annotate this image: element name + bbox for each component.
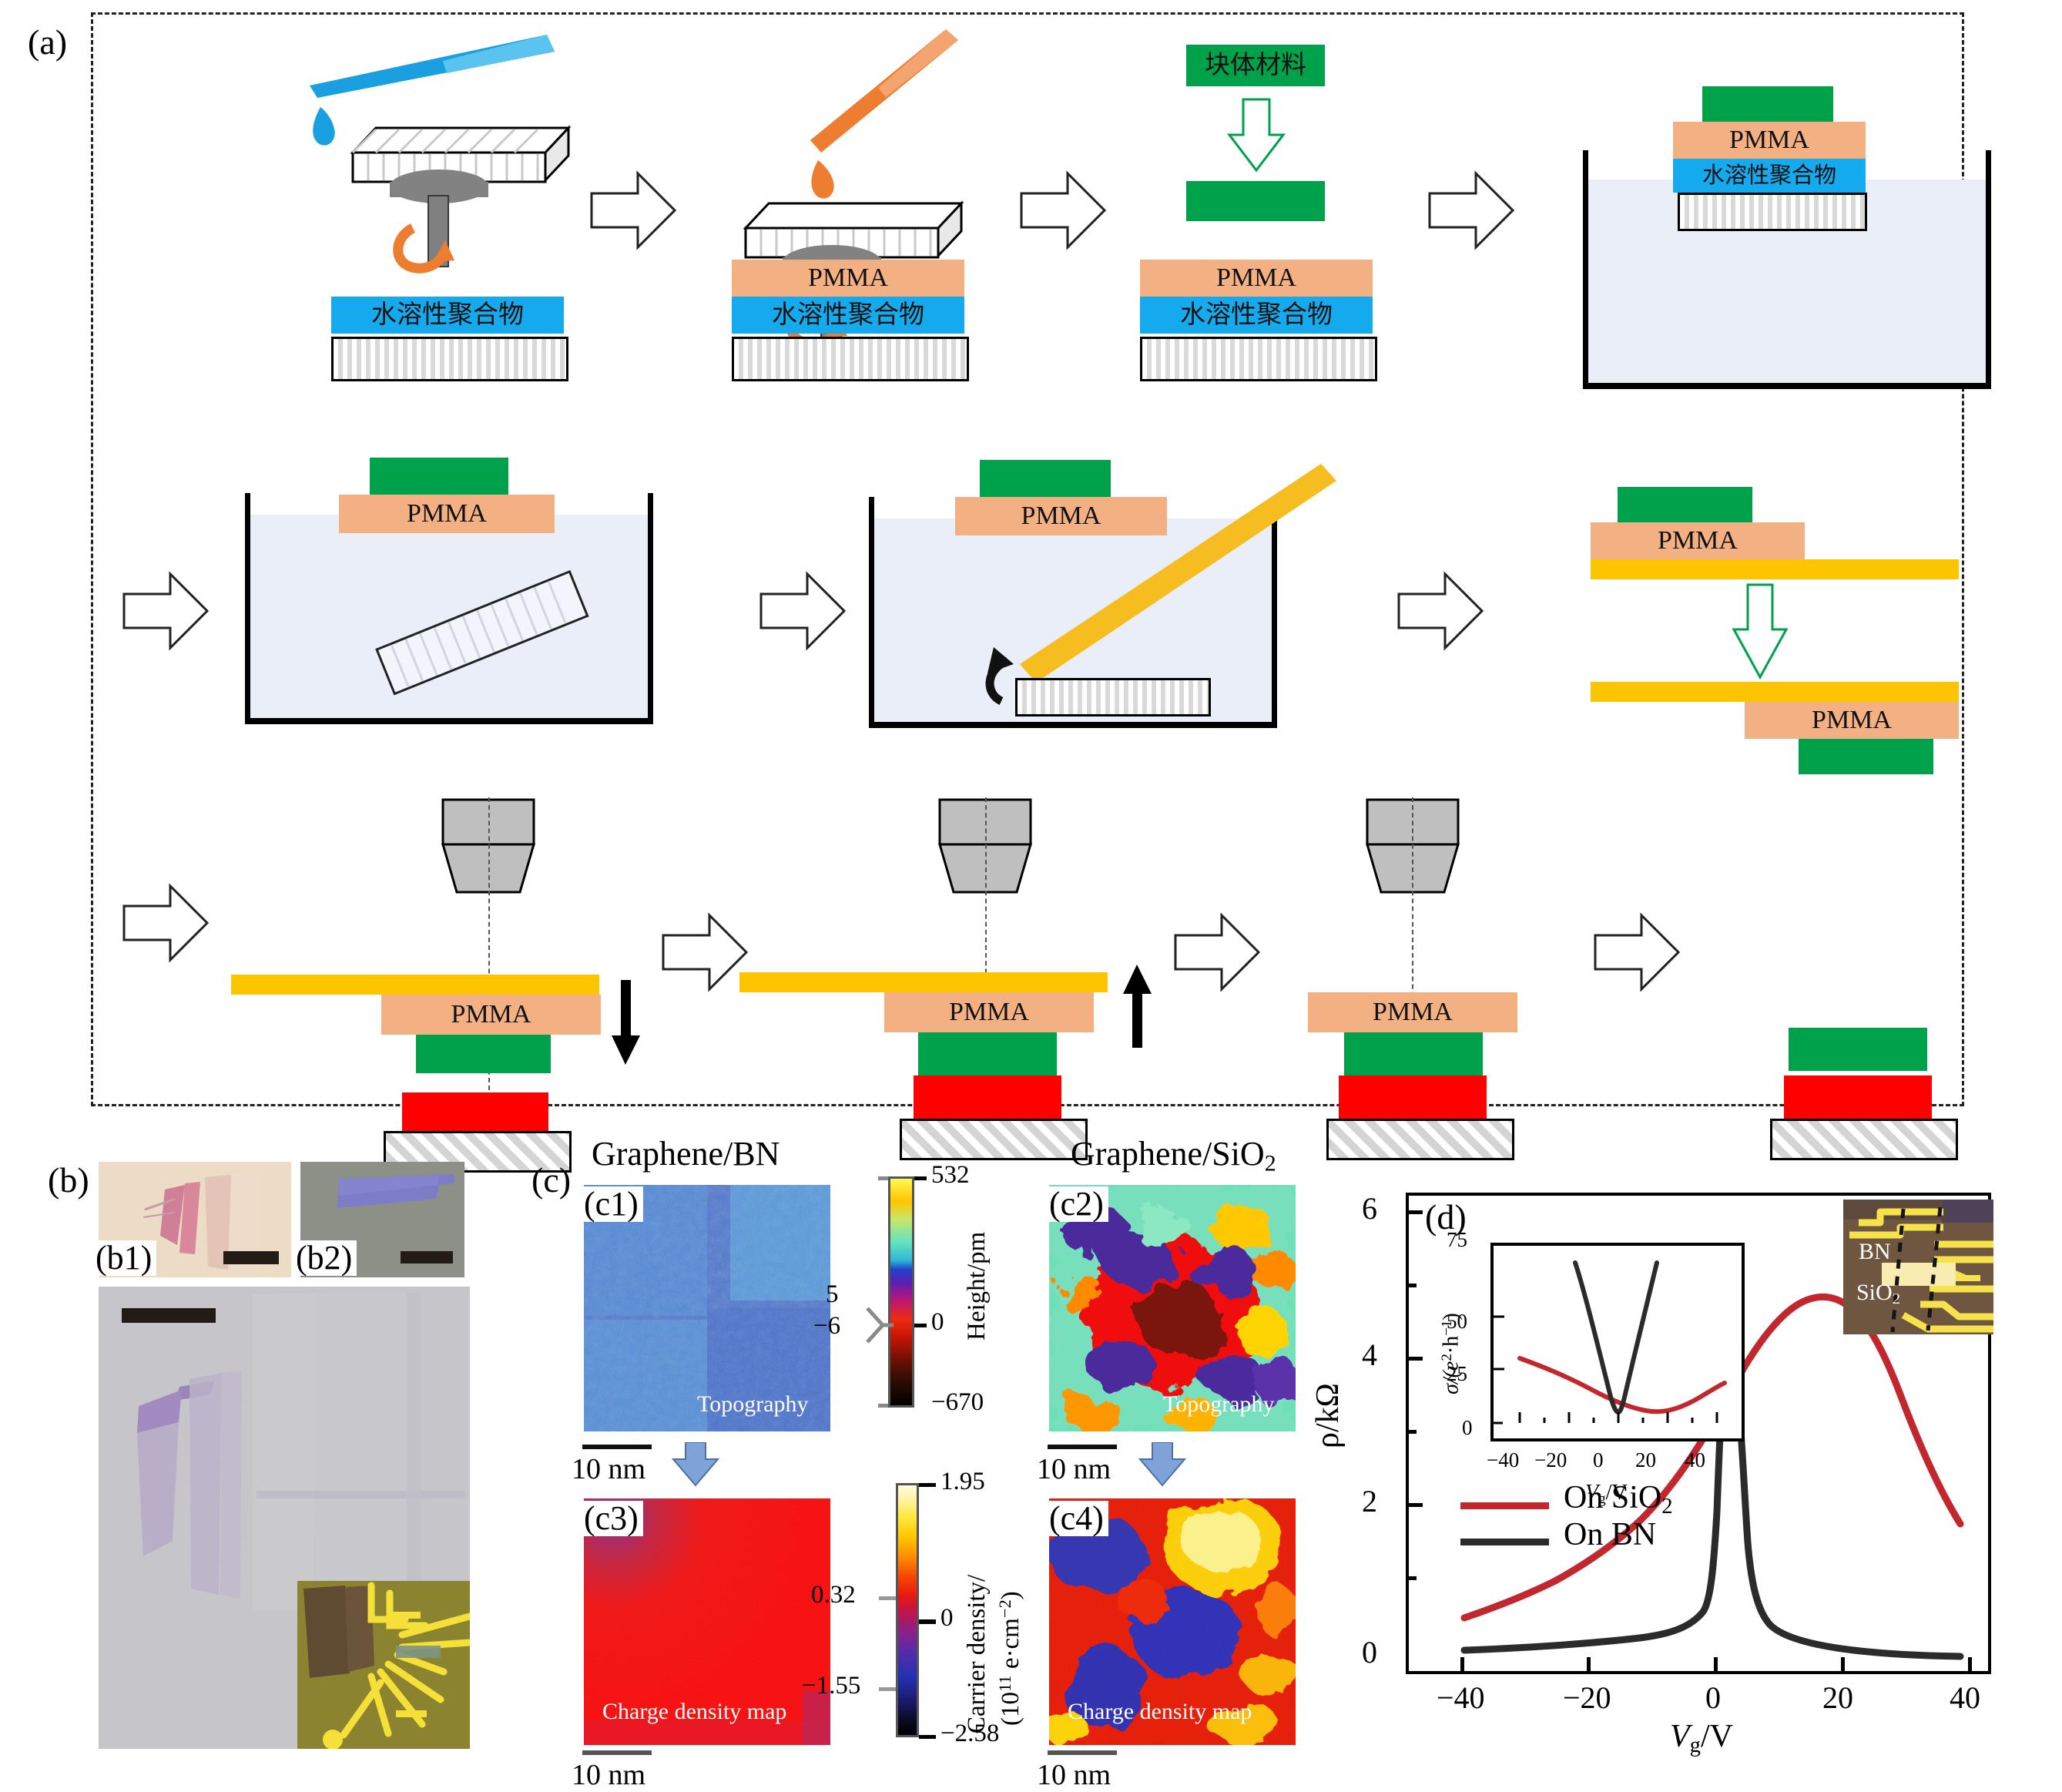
process-arrow-icon-6	[1394, 566, 1487, 659]
layer-pmma-a9: PMMA	[884, 992, 1094, 1032]
caption-c1: Topography	[697, 1391, 809, 1418]
height-cb-bracket-icon	[863, 1304, 894, 1347]
cb-tick-max-r	[914, 1176, 927, 1180]
cb-tick-max	[878, 1176, 888, 1180]
d-ytick-5	[1406, 1284, 1417, 1287]
layer-flake-a4	[1702, 86, 1833, 122]
d-xtick-label-40: 40	[1950, 1680, 1980, 1716]
legend-line-bn	[1460, 1539, 1549, 1545]
layer-pmma-a5: PMMA	[339, 495, 555, 533]
process-arrow-icon-9	[1171, 908, 1263, 1000]
layer-yellow-a9	[739, 972, 1108, 992]
layer-pmma-a7-bot: PMMA	[1745, 702, 1959, 739]
process-arrow-icon	[587, 166, 679, 258]
carrier-cb-title-line1: Carrier density/	[963, 1575, 991, 1733]
column-header-sio2-sub: 2	[1265, 1150, 1276, 1176]
inset-ylabel-sup2: −1	[1439, 1321, 1455, 1336]
ccb-tick-lower	[879, 1687, 896, 1691]
process-arrow-icon-4	[119, 566, 212, 659]
ccb-t2-sup: 11	[995, 1675, 1014, 1692]
sub-label-c3: (c3)	[579, 1501, 643, 1536]
d-xlabel-main: V	[1670, 1719, 1690, 1754]
d-xtick-m20	[1587, 1657, 1591, 1674]
height-cb-title: Height/pm	[963, 1232, 991, 1341]
d-ytick-2	[1406, 1503, 1423, 1507]
layer-wsp-a1: 水溶性聚合物	[331, 297, 564, 334]
d-xtick-m40	[1460, 1657, 1464, 1674]
pipette-orange-icon	[770, 23, 971, 216]
inset-xlabel-sub: g	[1598, 1491, 1606, 1507]
ccb-tick-min	[919, 1735, 936, 1739]
press-down-arrow-icon	[609, 980, 644, 1072]
cb-tick-zero	[914, 1324, 927, 1327]
scale-label-c3: 10 nm	[572, 1758, 645, 1792]
d-ytick-1	[1406, 1576, 1417, 1580]
inset-ylabel-main: σ/(e	[1440, 1361, 1464, 1394]
layer-pmma-a2: PMMA	[732, 260, 964, 297]
d-xlabel-unit: /V	[1701, 1719, 1733, 1754]
height-colorbar	[888, 1176, 914, 1408]
optical-image-b3	[99, 1287, 470, 1749]
green-down-arrow-icon	[1223, 96, 1293, 173]
carrier-cb-title-line2: (1011 e·cm−2)	[995, 1591, 1025, 1726]
height-cb-zero: 0	[931, 1308, 944, 1337]
column-header-graphene-bn: Graphene/BN	[592, 1134, 780, 1173]
d-xlabel-sub: g	[1690, 1733, 1701, 1757]
process-arrow-icon-7	[119, 878, 212, 971]
inset-ylabel-sup: 2	[1439, 1354, 1455, 1361]
scale-bar-c3	[582, 1750, 652, 1755]
inset-ylabel-mid: ·h	[1440, 1336, 1464, 1354]
inset-xlabel-unit: /V	[1606, 1481, 1628, 1505]
green-down-arrow-icon-2	[1729, 582, 1799, 682]
ccb-tick-zero	[919, 1619, 936, 1624]
inset-ylabel-end: )	[1440, 1313, 1464, 1320]
sub-label-c4: (c4)	[1044, 1501, 1108, 1536]
layer-pmma-a3: PMMA	[1140, 260, 1373, 297]
caption-c4: Charge density map	[1068, 1699, 1252, 1725]
inset-xtick-m40: −40	[1487, 1448, 1519, 1472]
layer-red-a11	[1784, 1076, 1932, 1119]
layer-flake-a3	[1186, 181, 1325, 221]
process-arrow-icon-10	[1591, 908, 1683, 1000]
scale-label-c2: 10 nm	[1037, 1452, 1111, 1486]
layer-flake-a11	[1789, 1028, 1927, 1071]
height-cb-inner-upper: 5	[826, 1280, 839, 1309]
inset-xtick-0: 0	[1593, 1448, 1604, 1472]
layer-flake-a9	[918, 1032, 1057, 1076]
inset-xaxis-label: Vg/V	[1585, 1481, 1628, 1508]
ccb-tick-max	[919, 1483, 936, 1487]
substrate-a6	[1015, 678, 1211, 716]
stamp-tool-icon-3	[1352, 794, 1475, 901]
device-label-sio2-main: SiO	[1856, 1280, 1893, 1305]
map-flow-arrow-c1	[669, 1442, 723, 1487]
layer-yellow-a7-top	[1591, 559, 1959, 579]
layer-flake-a5	[370, 458, 508, 495]
substrate-a1	[331, 337, 568, 381]
layer-yellow-a7-bot	[1591, 682, 1959, 702]
d-ytick-label-0: 0	[1362, 1634, 1377, 1670]
d-xtick-label-0: 0	[1705, 1680, 1721, 1716]
d-ytick-label-6: 6	[1362, 1190, 1377, 1227]
carrier-cb-lower: −1.55	[802, 1672, 860, 1700]
panel-c-label: (c)	[531, 1159, 571, 1200]
inset-conductivity-plot	[1490, 1243, 1745, 1441]
layer-flake-a8	[416, 1035, 551, 1073]
d-xaxis-label: Vg/V	[1670, 1718, 1733, 1758]
pickup-film-a6	[971, 455, 1371, 709]
caption-c2: Topography	[1163, 1391, 1275, 1418]
d-xtick-20	[1841, 1657, 1845, 1674]
inset-plot-svg	[1494, 1246, 1742, 1438]
layer-pmma-a4: PMMA	[1673, 122, 1866, 159]
panel-a-label: (a)	[28, 22, 67, 62]
height-cb-inner-lower: −6	[813, 1312, 840, 1341]
substrate-hatch-a9	[900, 1119, 1088, 1160]
substrate-hatch-a10	[1326, 1119, 1514, 1160]
d-ytick-6	[1406, 1210, 1423, 1214]
scale-label-c4: 10 nm	[1037, 1758, 1111, 1792]
inset-xtick-40: 40	[1685, 1448, 1705, 1472]
layer-red-a9	[914, 1076, 1061, 1119]
map-flow-arrow-c2	[1135, 1442, 1189, 1487]
layer-wsp-a4: 水溶性聚合物	[1673, 159, 1866, 193]
legend-label-bn: On BN	[1564, 1516, 1656, 1553]
layer-pmma-a8: PMMA	[381, 995, 601, 1035]
ccb-t2-end: )	[997, 1591, 1024, 1599]
layer-flake-a7-bot	[1799, 739, 1933, 774]
dissolved-substrate-a5	[356, 570, 610, 701]
inset-xtick-20: 20	[1635, 1448, 1656, 1472]
legend-line-sio2	[1460, 1502, 1549, 1509]
inset-xtick-m20: −20	[1534, 1448, 1567, 1472]
scale-bar-c1	[582, 1445, 652, 1449]
process-arrow-icon-8	[659, 908, 751, 1000]
device-label-sio2: SiO2	[1856, 1280, 1900, 1308]
layer-yellow-a8	[231, 975, 599, 995]
ccb-t2-sup2: −2	[995, 1599, 1014, 1618]
device-optical-photo	[1843, 1200, 1993, 1334]
layer-bulk-material: 块体材料	[1186, 45, 1325, 86]
caption-c3: Charge density map	[602, 1699, 786, 1725]
legend-sio2-sub: 2	[1661, 1495, 1672, 1519]
d-xtick-label-m20: −20	[1563, 1680, 1611, 1716]
scale-bar-c4	[1048, 1750, 1117, 1755]
d-ytick-label-2: 2	[1362, 1483, 1377, 1519]
sub-label-c2: (c2)	[1044, 1186, 1108, 1222]
carrier-cb-max: 1.95	[940, 1468, 985, 1496]
process-arrow-icon-3	[1425, 166, 1517, 258]
substrate-hatch-a11	[1770, 1119, 1958, 1160]
panel-b-label: (b)	[48, 1159, 89, 1200]
ccb-t2-post: e·cm	[997, 1618, 1024, 1675]
sub-label-b2: (b2)	[291, 1240, 357, 1276]
substrate-a4	[1678, 193, 1867, 231]
substrate-a2	[732, 337, 969, 381]
layer-pmma-a7-top: PMMA	[1591, 522, 1805, 559]
lift-up-arrow-icon	[1120, 963, 1155, 1055]
inset-yaxis-label: σ/(e2·h−1)	[1439, 1313, 1464, 1394]
layer-flake-a7-top	[1618, 487, 1752, 522]
device-label-bn: BN	[1859, 1239, 1891, 1265]
d-ytick-3	[1406, 1430, 1417, 1434]
sub-label-b1: (b1)	[91, 1240, 156, 1276]
layer-wsp-a2: 水溶性聚合物	[732, 297, 964, 334]
layer-flake-a10	[1344, 1032, 1483, 1076]
inset-xlabel-main: V	[1585, 1481, 1598, 1505]
d-ytick-4	[1406, 1357, 1423, 1361]
height-cb-max: 532	[931, 1161, 970, 1190]
inset-ytick-0: 0	[1462, 1416, 1473, 1440]
carrier-colorbar	[896, 1483, 919, 1737]
height-cb-min: −670	[931, 1388, 984, 1417]
process-arrow-icon-5	[756, 566, 849, 659]
d-xtick-0	[1714, 1657, 1718, 1674]
spin-coater-icon	[339, 116, 578, 285]
inset-ytick-75: 75	[1447, 1228, 1467, 1252]
carrier-cb-zero: 0	[940, 1604, 954, 1633]
ccb-tick-upper	[879, 1596, 896, 1600]
device-label-sio2-sub: 2	[1893, 1290, 1900, 1307]
d-ytick-label-4: 4	[1362, 1337, 1377, 1373]
cb-tick-min	[878, 1404, 888, 1408]
ccb-t2-pre: (10	[997, 1692, 1024, 1726]
layer-wsp-a3: 水溶性聚合物	[1140, 297, 1373, 334]
d-yaxis-label: ρ/kΩ	[1309, 1383, 1346, 1448]
d-xtick-40	[1968, 1657, 1972, 1674]
column-header-sio2-main: Graphene/SiO	[1071, 1135, 1265, 1173]
scale-label-c1: 10 nm	[572, 1452, 645, 1486]
sub-label-c1: (c1)	[579, 1186, 643, 1222]
layer-red-a8	[402, 1092, 548, 1131]
carrier-cb-upper: 0.32	[811, 1581, 856, 1609]
substrate-a3	[1140, 337, 1377, 381]
column-header-graphene-sio2: Graphene/SiO2	[1071, 1134, 1276, 1176]
d-xtick-label-m40: −40	[1437, 1680, 1485, 1716]
layer-red-a10	[1339, 1076, 1487, 1119]
layer-pmma-a10: PMMA	[1308, 992, 1517, 1032]
process-arrow-icon-2	[1017, 166, 1109, 258]
scale-bar-c2	[1048, 1445, 1117, 1449]
d-xtick-label-20: 20	[1822, 1680, 1853, 1716]
